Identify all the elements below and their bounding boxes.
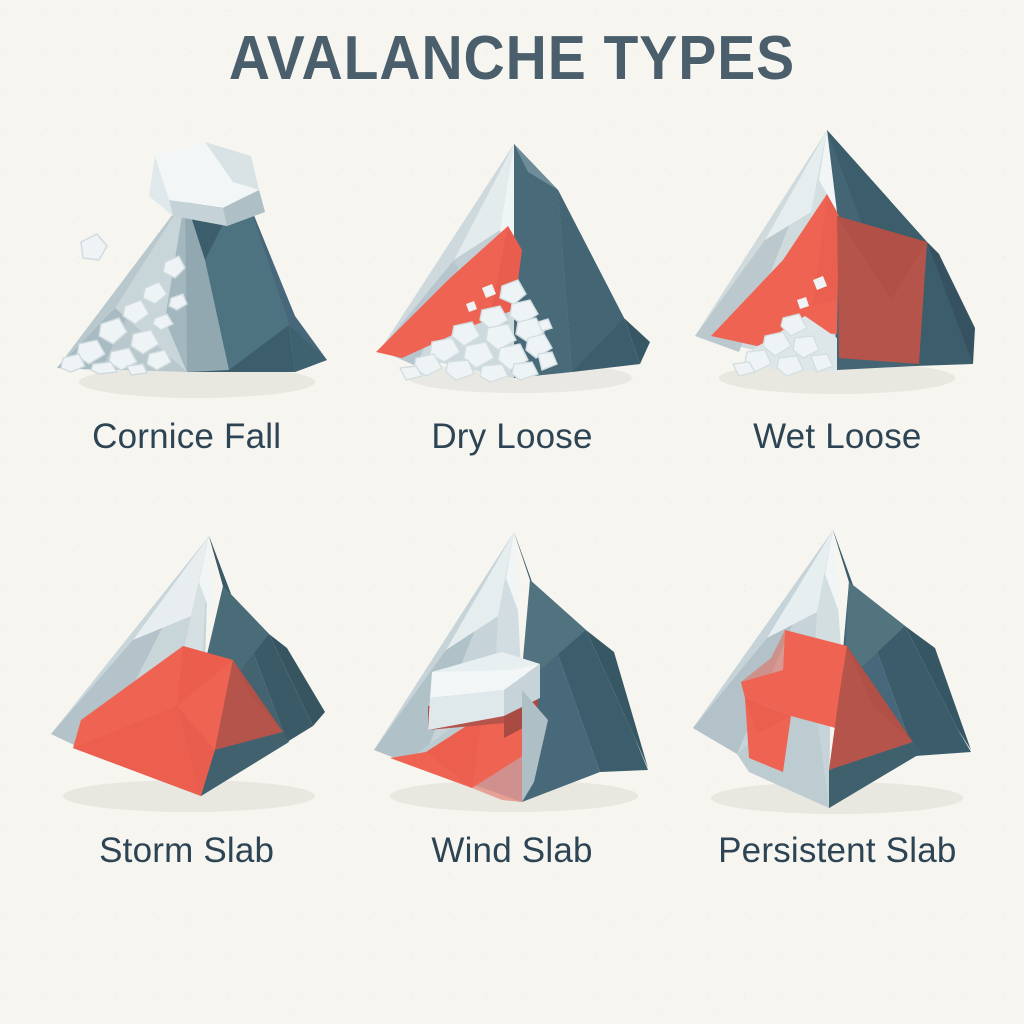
card-wind-slab[interactable]: Wind Slab: [349, 520, 674, 920]
avalanche-types-poster: AVALANCHE TYPES: [0, 0, 1024, 1024]
illustration-storm-slab: [37, 520, 337, 820]
card-label: Cornice Fall: [92, 416, 281, 457]
card-storm-slab[interactable]: Storm Slab: [24, 520, 349, 920]
avalanche-type-grid: Cornice Fall: [24, 120, 1000, 920]
card-label: Storm Slab: [99, 830, 274, 871]
card-label: Persistent Slab: [718, 830, 956, 871]
card-label: Wind Slab: [431, 830, 592, 871]
illustration-dry-loose: [362, 120, 662, 410]
card-dry-loose[interactable]: Dry Loose: [349, 120, 674, 520]
illustration-persistent-slab: [687, 520, 987, 820]
card-persistent-slab[interactable]: Persistent Slab: [675, 520, 1000, 920]
illustration-wind-slab: [362, 520, 662, 820]
illustration-wet-loose: [687, 120, 987, 410]
illustration-cornice-fall: [37, 120, 337, 410]
card-cornice-fall[interactable]: Cornice Fall: [24, 120, 349, 520]
page-title: AVALANCHE TYPES: [41, 28, 983, 90]
card-label: Wet Loose: [753, 416, 921, 457]
card-label: Dry Loose: [431, 416, 592, 457]
card-wet-loose[interactable]: Wet Loose: [675, 120, 1000, 520]
